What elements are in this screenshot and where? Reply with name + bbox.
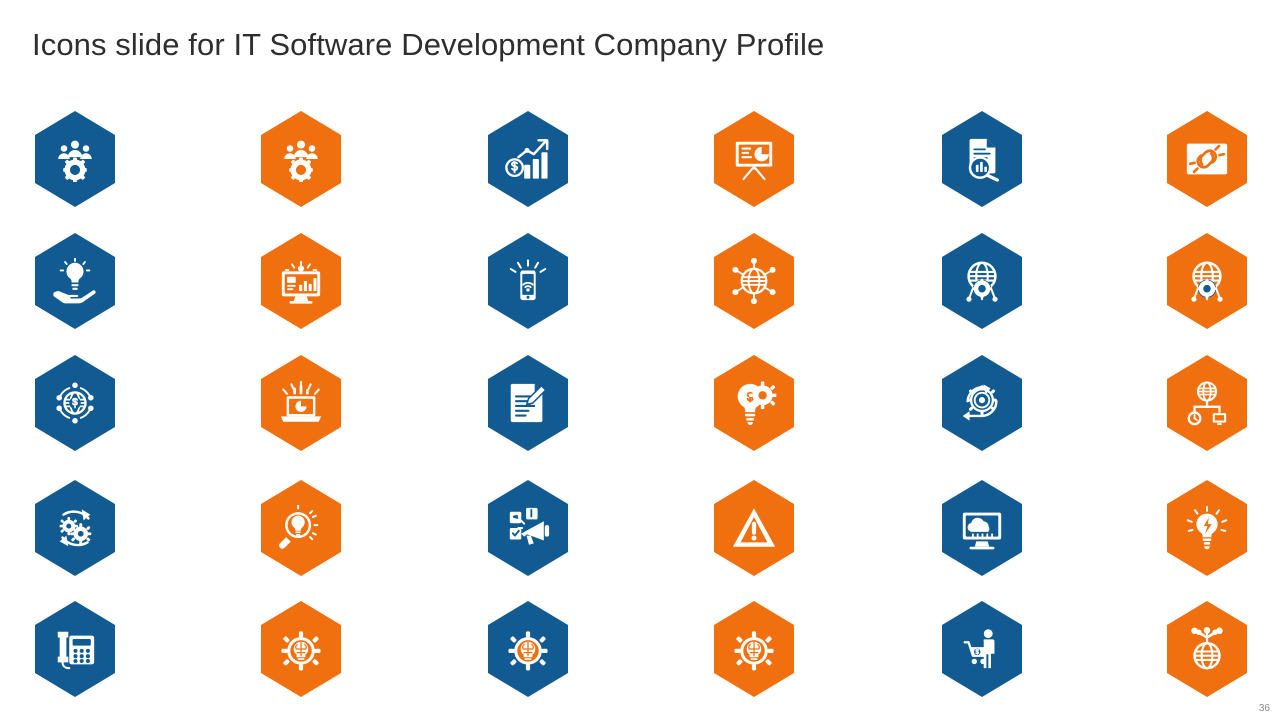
gears-cycle-icon: [52, 505, 98, 551]
megaphone-apps-icon: [505, 505, 551, 551]
page-title: Icons slide for IT Software Development …: [32, 27, 824, 63]
icon-tile-agile-cycle-gear[interactable]: [934, 350, 1030, 456]
icon-tile-document-pencil[interactable]: [480, 350, 576, 456]
icon-tile-gears-cycle[interactable]: [27, 475, 123, 581]
icon-grid: [0, 106, 1280, 706]
icon-tile-globe-network-nodes[interactable]: [706, 228, 802, 334]
icon-tile-globe-hierarchy[interactable]: [1159, 350, 1255, 456]
icon-tile-document-search[interactable]: [934, 106, 1030, 212]
icon-tile-globe-gear-alt[interactable]: [1159, 228, 1255, 334]
globe-hierarchy-icon: [1184, 380, 1230, 426]
icon-tile-brain-gear[interactable]: [253, 596, 349, 702]
icon-tile-bulb-gear[interactable]: [706, 350, 802, 456]
icon-tile-broken-link[interactable]: [1159, 106, 1255, 212]
icon-tile-globe-connections[interactable]: [1159, 596, 1255, 702]
laptop-analytics-icon: [278, 380, 324, 426]
shopper-cart-icon: [959, 626, 1005, 672]
icon-tile-shopper-cart[interactable]: [934, 596, 1030, 702]
globe-money-cycle-icon: [52, 380, 98, 426]
icon-tile-cloud-monitor[interactable]: [934, 475, 1030, 581]
globe-gear-icon: [959, 258, 1005, 304]
cloud-monitor-icon: [959, 505, 1005, 551]
icon-tile-desk-telephone[interactable]: [27, 596, 123, 702]
bulb-idea-spark-icon: [1184, 505, 1230, 551]
page-number: 36: [1259, 703, 1270, 714]
icon-tile-team-gear-alt[interactable]: [253, 106, 349, 212]
mobile-wifi-icon: [505, 258, 551, 304]
icon-tile-monitor-data[interactable]: [253, 228, 349, 334]
globe-network-nodes-icon: [731, 258, 777, 304]
document-pencil-icon: [505, 380, 551, 426]
slide-canvas: Icons slide for IT Software Development …: [0, 0, 1280, 720]
icon-tile-presentation-board[interactable]: [706, 106, 802, 212]
icon-tile-warning-triangle[interactable]: [706, 475, 802, 581]
agile-cycle-gear-icon: [959, 380, 1005, 426]
icon-tile-brain-gear-alt2[interactable]: [706, 596, 802, 702]
icon-tile-revenue-growth-chart[interactable]: [480, 106, 576, 212]
icon-tile-globe-gear[interactable]: [934, 228, 1030, 334]
brain-gear-alt-icon: [505, 626, 551, 672]
globe-gear-alt-icon: [1184, 258, 1230, 304]
brain-gear-icon: [278, 626, 324, 672]
team-gear-icon: [52, 136, 98, 182]
monitor-data-icon: [278, 258, 324, 304]
globe-connections-icon: [1184, 626, 1230, 672]
icon-tile-globe-money-cycle[interactable]: [27, 350, 123, 456]
broken-link-icon: [1184, 136, 1230, 182]
desk-telephone-icon: [52, 626, 98, 672]
icon-tile-laptop-analytics[interactable]: [253, 350, 349, 456]
icon-tile-mobile-wifi[interactable]: [480, 228, 576, 334]
icon-tile-hand-lightbulb[interactable]: [27, 228, 123, 334]
revenue-growth-chart-icon: [505, 136, 551, 182]
icon-tile-bulb-idea-spark[interactable]: [1159, 475, 1255, 581]
icon-tile-team-gear[interactable]: [27, 106, 123, 212]
icon-tile-magnifier-bulb[interactable]: [253, 475, 349, 581]
document-search-icon: [959, 136, 1005, 182]
presentation-board-icon: [731, 136, 777, 182]
icon-tile-brain-gear-alt[interactable]: [480, 596, 576, 702]
icon-tile-megaphone-apps[interactable]: [480, 475, 576, 581]
hand-lightbulb-icon: [52, 258, 98, 304]
bulb-gear-icon: [731, 380, 777, 426]
brain-gear-alt2-icon: [731, 626, 777, 672]
magnifier-bulb-icon: [278, 505, 324, 551]
warning-triangle-icon: [731, 505, 777, 551]
team-gear-alt-icon: [278, 136, 324, 182]
